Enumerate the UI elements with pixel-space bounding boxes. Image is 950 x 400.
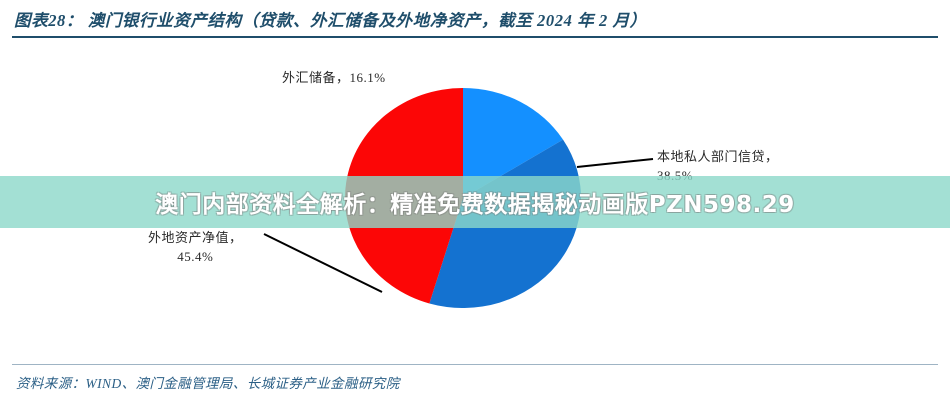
pie-label-net-external-assets: 外地资产净值， 45.4% [148,228,243,266]
figure-title-bar: 图表28： 澳门银行业资产结构（贷款、外汇储备及外地净资产，截至 2024 年 … [14,6,936,38]
source-note: 资料来源：WIND、澳门金融管理局、长城证券产业金融研究院 [16,372,400,392]
watermark-banner: 澳门内部资料全解析：精准免费数据揭秘动画版PZN598.29 [0,176,950,228]
pie-label-private-credit-line1: 本地私人部门信贷， [657,149,779,164]
page-title: 图表28： 澳门银行业资产结构（贷款、外汇储备及外地净资产，截至 2024 年 … [14,6,936,36]
leader-line-private-credit [575,145,665,175]
watermark-text: 澳门内部资料全解析：精准免费数据揭秘动画版PZN598.29 [155,185,795,219]
pie-label-net-external-assets-line2: 45.4% [148,247,243,266]
pie-label-foreign-reserves: 外汇储备，16.1% [282,68,386,87]
figure-container: 图表28： 澳门银行业资产结构（贷款、外汇储备及外地净资产，截至 2024 年 … [0,0,950,400]
title-divider [12,36,938,38]
pie-label-net-external-assets-line1: 外地资产净值， [148,230,243,245]
footer-divider [12,364,938,365]
